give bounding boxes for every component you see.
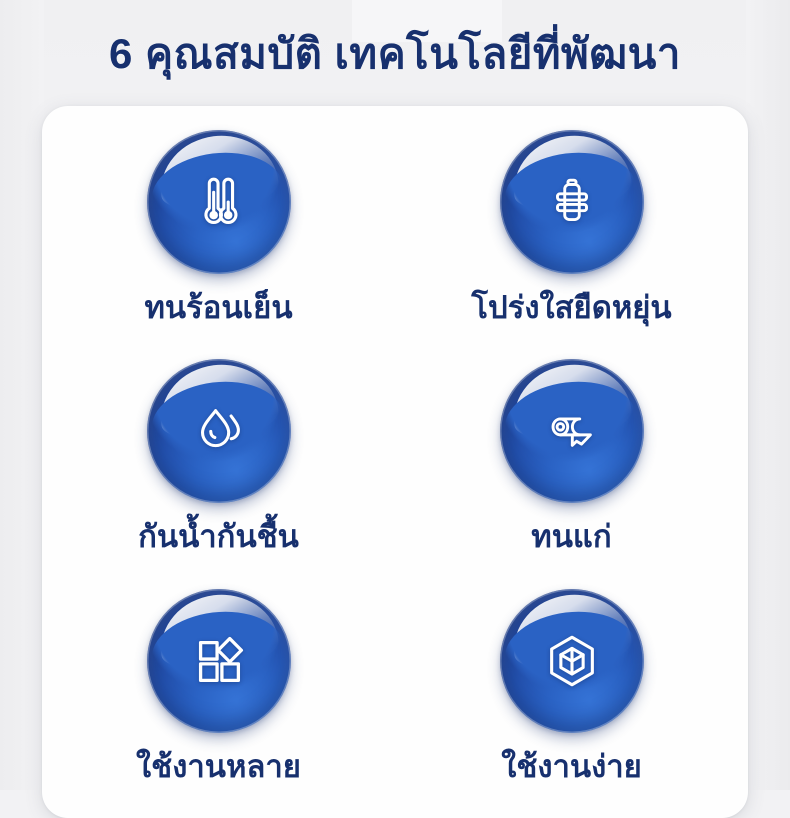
feature-orb	[147, 130, 291, 274]
elastic-stretch-icon	[500, 130, 644, 274]
feature-label: กันน้ำกันชื้น	[138, 517, 299, 557]
feature-label: ใช้งานหลาย	[136, 747, 301, 787]
feature-label: ใช้งานง่าย	[501, 747, 642, 787]
feature-label: ทนร้อนเย็น	[144, 288, 292, 328]
feature-orb	[500, 130, 644, 274]
water-drops-icon	[147, 359, 291, 503]
material-roll-icon	[500, 359, 644, 503]
multi-shapes-icon	[147, 589, 291, 733]
feature-item-transparent-elastic[interactable]: โปร่งใสยืดหยุ่น	[395, 130, 748, 359]
thermometers-icon	[147, 130, 291, 274]
page-title: 6 คุณสมบัติ เทคโนโลยีที่พัฒนา	[0, 26, 790, 82]
feature-orb	[147, 359, 291, 503]
feature-orb	[500, 589, 644, 733]
hexagon-cube-icon	[500, 589, 644, 733]
background-right-shade	[746, 0, 790, 790]
feature-item-easy-use[interactable]: ใช้งานง่าย	[395, 589, 748, 818]
feature-item-heat-cold[interactable]: ทนร้อนเย็น	[42, 130, 395, 359]
feature-item-multi-use[interactable]: ใช้งานหลาย	[42, 589, 395, 818]
features-grid: ทนร้อนเย็น โปร่งใสยืดหยุ่น	[42, 106, 748, 818]
feature-orb	[147, 589, 291, 733]
feature-label: โปร่งใสยืดหยุ่น	[471, 288, 671, 328]
feature-item-durable[interactable]: ทนแก่	[395, 359, 748, 588]
background-left-shade	[0, 0, 44, 790]
feature-item-waterproof[interactable]: กันน้ำกันชื้น	[42, 359, 395, 588]
feature-orb	[500, 359, 644, 503]
feature-label: ทนแก่	[531, 517, 611, 557]
